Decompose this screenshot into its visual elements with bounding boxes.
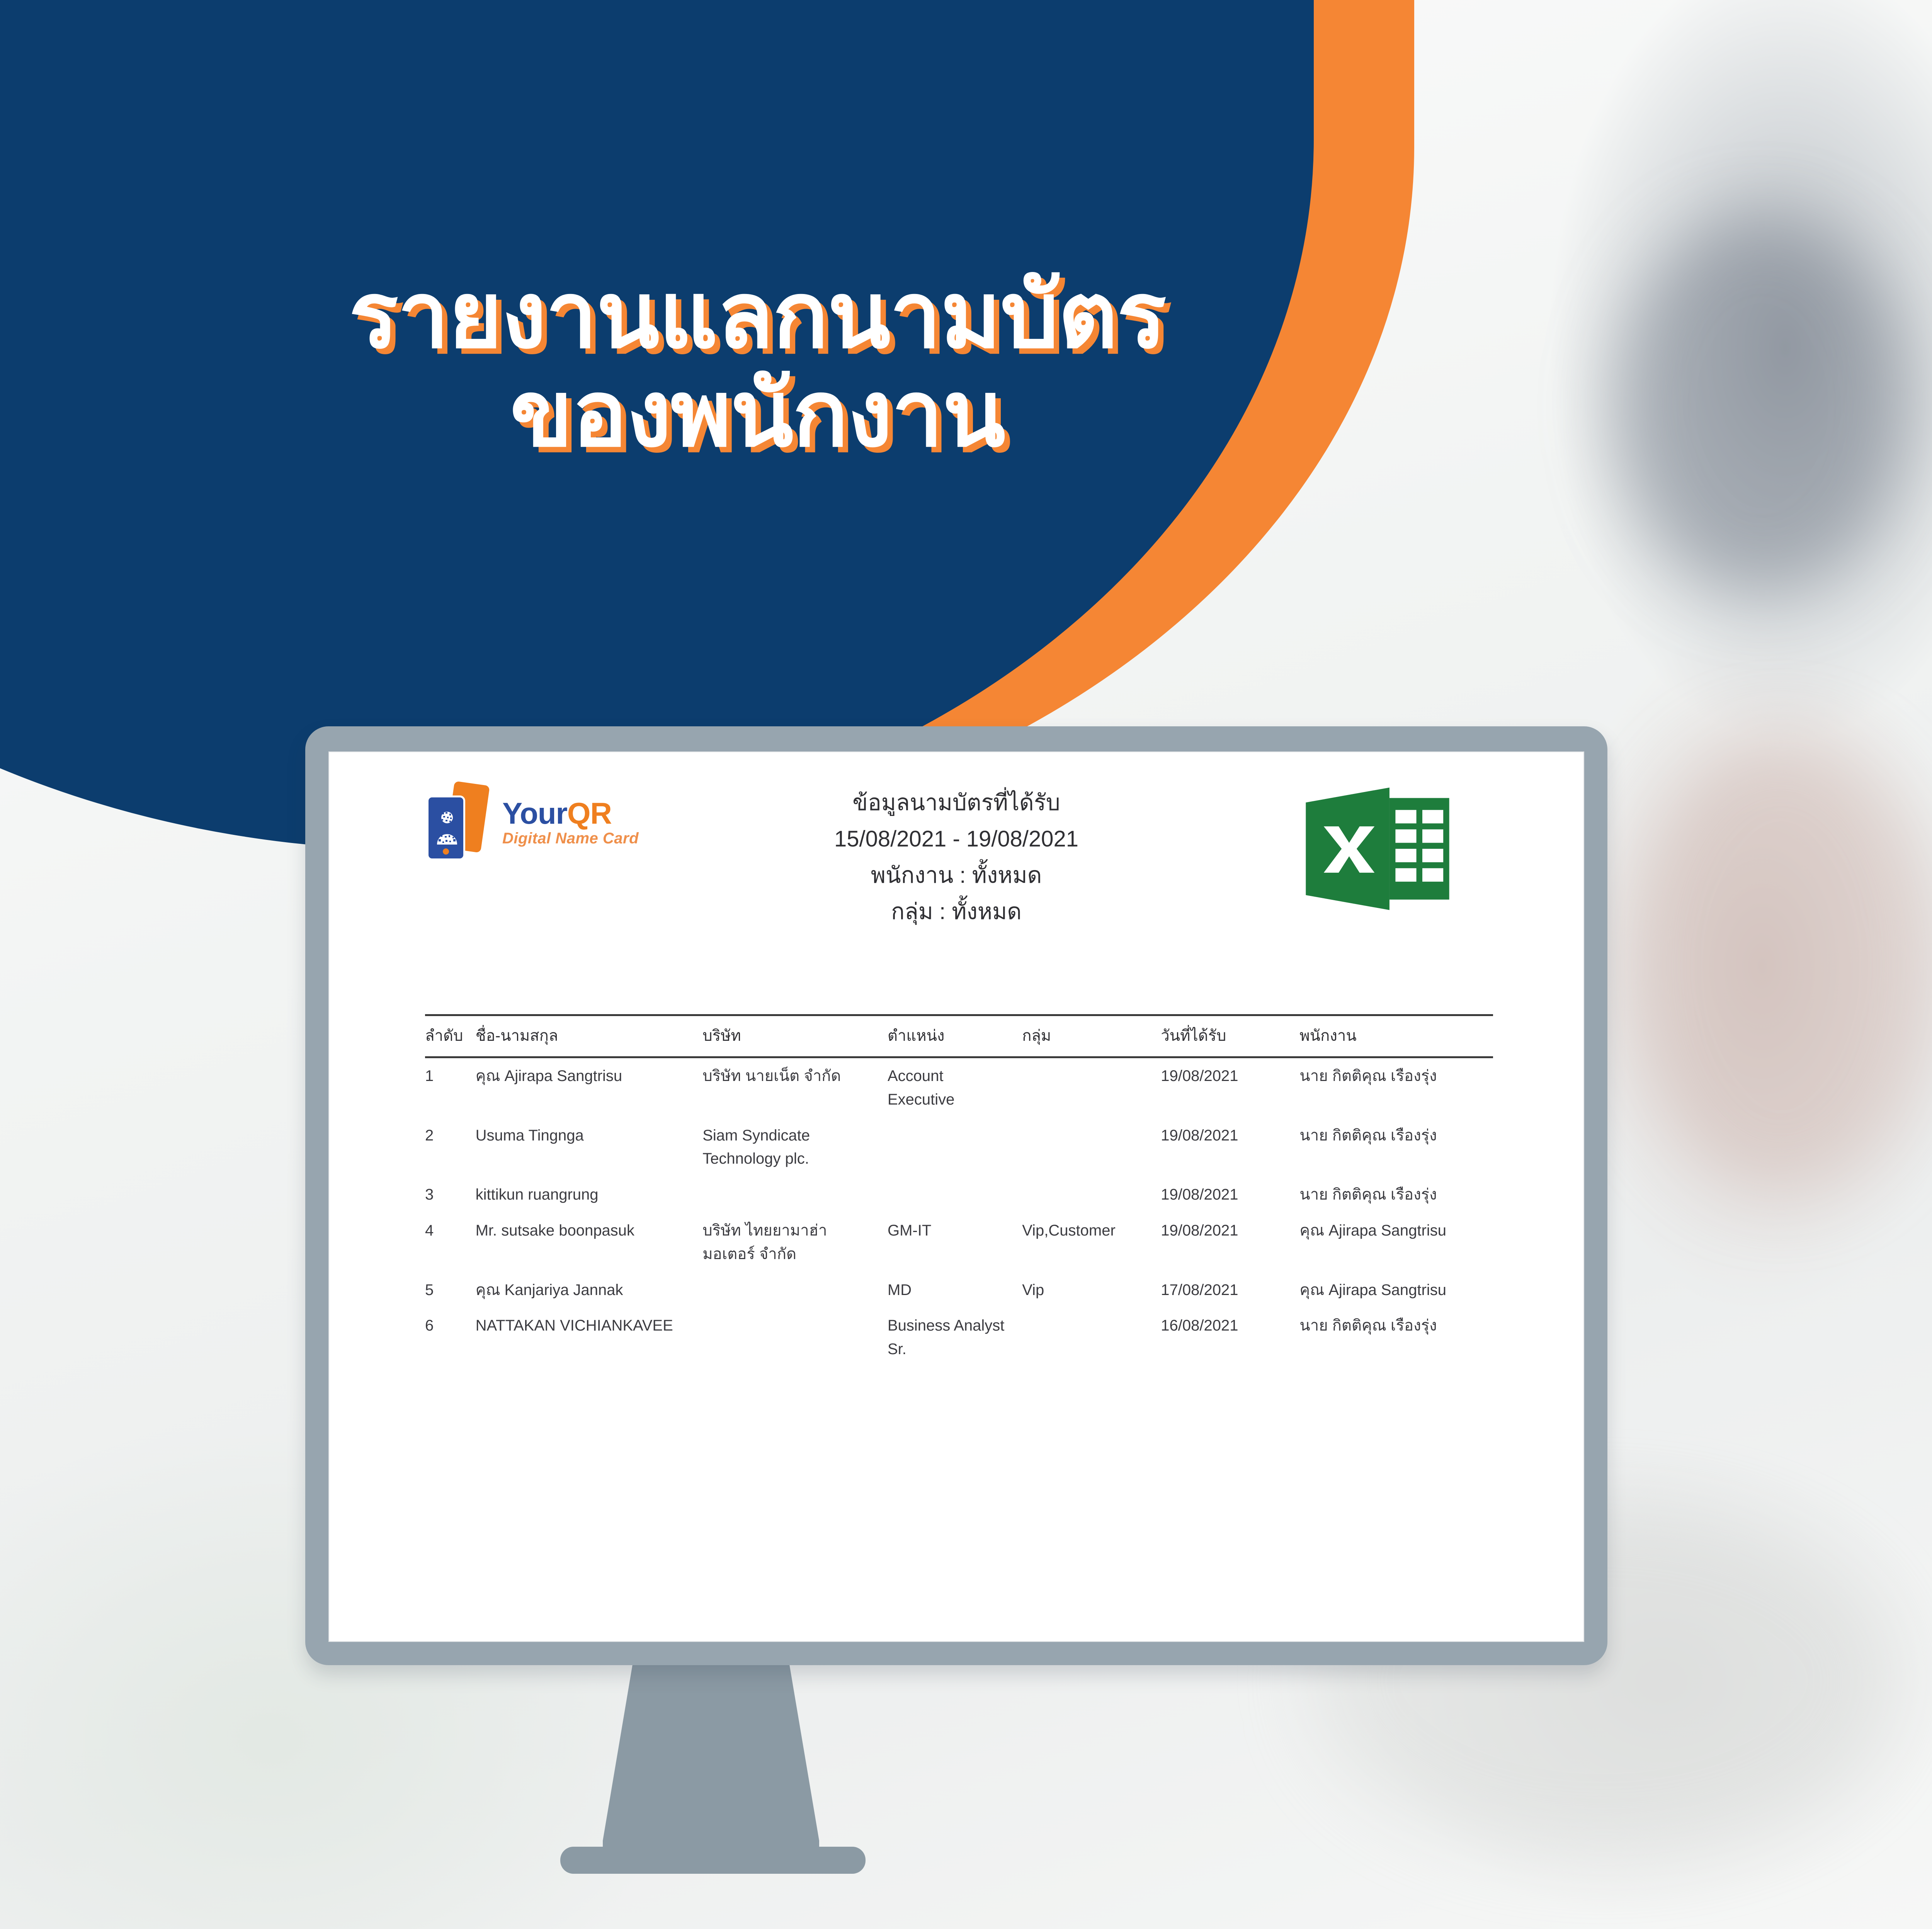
- cell-name: Mr. sutsake boonpasuk: [476, 1213, 703, 1272]
- cell-no: 3: [425, 1177, 476, 1213]
- background-blur-blob-2: [1623, 734, 1932, 1198]
- cell-employee: นาย กิตติคุณ เรืองรุ่ง: [1299, 1057, 1493, 1118]
- cell-date: 19/08/2021: [1161, 1177, 1299, 1213]
- column-header-employee: พนักงาน: [1299, 1015, 1493, 1057]
- cell-company: บริษัท ไทยยามาฮ่ามอเตอร์ จำกัด: [702, 1213, 888, 1272]
- column-header-name: ชื่อ-นามสกุล: [476, 1015, 703, 1057]
- column-header-company: บริษัท: [702, 1015, 888, 1057]
- cell-employee: นาย กิตติคุณ เรืองรุ่ง: [1299, 1177, 1493, 1213]
- column-header-no: ลำดับ: [425, 1015, 476, 1057]
- cell-group: Vip: [1022, 1272, 1161, 1308]
- cell-position: MD: [888, 1272, 1022, 1308]
- cell-company: [702, 1272, 888, 1308]
- background-blur-blob-1: [1615, 216, 1909, 595]
- cell-employee: นาย กิตติคุณ เรืองรุ่ง: [1299, 1308, 1493, 1367]
- cell-company: Siam Syndicate Technology plc.: [702, 1118, 888, 1177]
- cell-no: 6: [425, 1308, 476, 1367]
- table-head: ลำดับ ชื่อ-นามสกุล บริษัท ตำแหน่ง กลุ่ม …: [425, 1015, 1493, 1057]
- cell-employee: คุณ Ajirapa Sangtrisu: [1299, 1213, 1493, 1272]
- cell-name: คุณ Kanjariya Jannak: [476, 1272, 703, 1308]
- monitor-stand-neck: [603, 1661, 819, 1870]
- report-employee-filter: พนักงาน : ทั้งหมด: [328, 857, 1584, 894]
- cell-group: [1022, 1118, 1161, 1177]
- cell-position: GM-IT: [888, 1213, 1022, 1272]
- cell-no: 4: [425, 1213, 476, 1272]
- monitor-screen: YourQR Digital Name Card: [328, 751, 1584, 1642]
- cell-employee: คุณ Ajirapa Sangtrisu: [1299, 1272, 1493, 1308]
- cell-name: Usuma Tingnga: [476, 1118, 703, 1177]
- table-header-row: ลำดับ ชื่อ-นามสกุล บริษัท ตำแหน่ง กลุ่ม …: [425, 1015, 1493, 1057]
- cell-company: บริษัท นายเน็ต จำกัด: [702, 1057, 888, 1118]
- table-row: 5 คุณ Kanjariya Jannak MD Vip 17/08/2021…: [425, 1272, 1493, 1308]
- cell-group: Vip,Customer: [1022, 1213, 1161, 1272]
- poster-root: รายงานแลกนามบัตร ของพนักงาน: [0, 0, 1932, 1929]
- cell-no: 5: [425, 1272, 476, 1308]
- received-namecards-table: ลำดับ ชื่อ-นามสกุล บริษัท ตำแหน่ง กลุ่ม …: [425, 1014, 1493, 1367]
- cell-position: Business Analyst Sr.: [888, 1308, 1022, 1367]
- cell-group: [1022, 1177, 1161, 1213]
- report-group-filter: กลุ่ม : ทั้งหมด: [328, 894, 1584, 930]
- column-header-date: วันที่ได้รับ: [1161, 1015, 1299, 1057]
- table-row: 3 kittikun ruangrung 19/08/2021 นาย กิตต…: [425, 1177, 1493, 1213]
- cell-group: [1022, 1308, 1161, 1367]
- cell-employee: นาย กิตติคุณ เรืองรุ่ง: [1299, 1118, 1493, 1177]
- cell-position: [888, 1118, 1022, 1177]
- cell-name: คุณ Ajirapa Sangtrisu: [476, 1057, 703, 1118]
- table-row: 1 คุณ Ajirapa Sangtrisu บริษัท นายเน็ต จ…: [425, 1057, 1493, 1118]
- report-title: ข้อมูลนามบัตรที่ได้รับ: [328, 785, 1584, 821]
- cell-company: [702, 1308, 888, 1367]
- cell-position: Account Executive: [888, 1057, 1022, 1118]
- monitor-bezel: YourQR Digital Name Card: [305, 726, 1607, 1665]
- column-header-group: กลุ่ม: [1022, 1015, 1161, 1057]
- table-row: 6 NATTAKAN VICHIANKAVEE Business Analyst…: [425, 1308, 1493, 1367]
- cell-no: 1: [425, 1057, 476, 1118]
- table-row: 4 Mr. sutsake boonpasuk บริษัท ไทยยามาฮ่…: [425, 1213, 1493, 1272]
- report-header: ข้อมูลนามบัตรที่ได้รับ 15/08/2021 - 19/0…: [328, 785, 1584, 930]
- table-body: 1 คุณ Ajirapa Sangtrisu บริษัท นายเน็ต จ…: [425, 1057, 1493, 1367]
- report-date-range: 15/08/2021 - 19/08/2021: [328, 821, 1584, 857]
- cell-company: [702, 1177, 888, 1213]
- cell-date: 19/08/2021: [1161, 1118, 1299, 1177]
- column-header-position: ตำแหน่ง: [888, 1015, 1022, 1057]
- cell-name: kittikun ruangrung: [476, 1177, 703, 1213]
- report-document: YourQR Digital Name Card: [328, 751, 1584, 1642]
- cell-date: 19/08/2021: [1161, 1057, 1299, 1118]
- cell-date: 19/08/2021: [1161, 1213, 1299, 1272]
- cell-group: [1022, 1057, 1161, 1118]
- cell-no: 2: [425, 1118, 476, 1177]
- monitor-stand-base: [560, 1847, 866, 1874]
- cell-position: [888, 1177, 1022, 1213]
- cell-date: 17/08/2021: [1161, 1272, 1299, 1308]
- cell-name: NATTAKAN VICHIANKAVEE: [476, 1308, 703, 1367]
- cell-date: 16/08/2021: [1161, 1308, 1299, 1367]
- table-row: 2 Usuma Tingnga Siam Syndicate Technolog…: [425, 1118, 1493, 1177]
